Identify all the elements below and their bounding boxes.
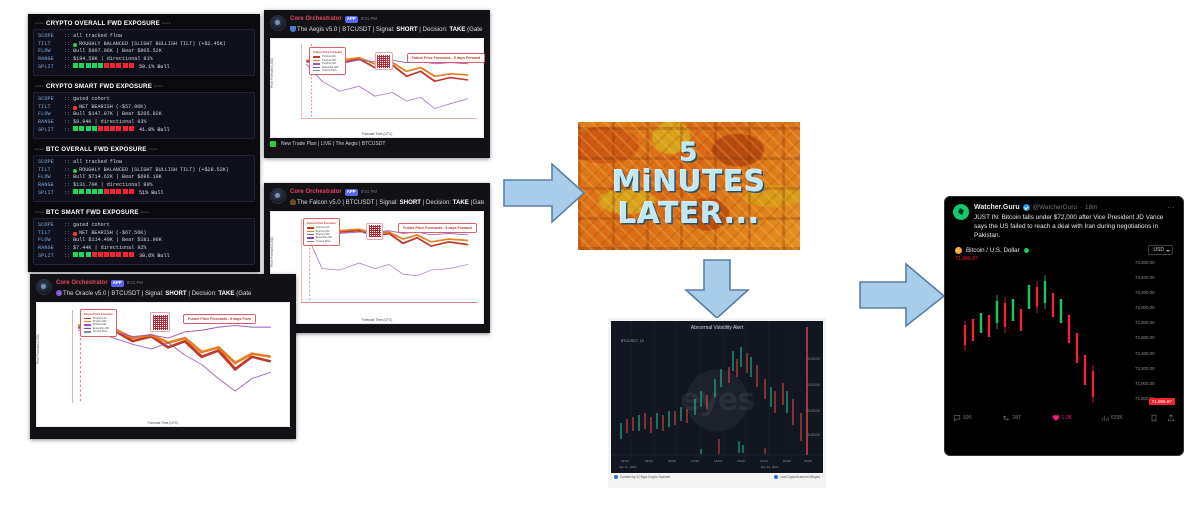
chart-symbol-row: Bitcoin / U.S. Dollar USD: [953, 245, 1175, 255]
message-header: Core Orchestrator APP 9:01 PM The Falcon…: [270, 188, 484, 207]
exposure-block-title: ---- CRYPTO SMART FWD EXPOSURE ----: [33, 81, 255, 92]
split-square-bull: [98, 189, 103, 194]
legend-swatch: [307, 241, 314, 242]
x-axis-label: Forecast Time (UTC): [37, 421, 289, 425]
message-meta: Core Orchestrator APP 9:01 PM The Aegis …: [290, 15, 484, 34]
app-badge: APP: [345, 189, 358, 196]
forecast-plot: Price Forecast (USD) Forecast Time (UTC)…: [270, 211, 484, 324]
gate-value: (Gate: [235, 290, 252, 297]
table-row: RANGE::$8.94K | directional 93%: [38, 119, 250, 127]
chart-legend: Future Price Forecast Prophet p10 Prophe…: [80, 309, 117, 337]
split-square-bear: [92, 252, 97, 257]
exposure-block-title: ---- BTC OVERALL FWD EXPOSURE ----: [33, 144, 255, 155]
handle[interactable]: @WatcherGuru: [1033, 204, 1077, 211]
split-square-bear: [129, 126, 134, 131]
legend-swatch: [313, 60, 320, 61]
x-axis-label: Forecast Time (UTC): [271, 132, 483, 136]
price-tick: 72,400.00: [1135, 346, 1175, 361]
table-row: FLOW::Bull $147.87K | Bear $205.82K: [38, 111, 250, 119]
price-tick: 72,000.00: [806, 409, 820, 413]
split-square-bear: [104, 63, 109, 68]
y-axis-label: Price Forecast (USD): [36, 334, 40, 364]
legend-swatch: [307, 237, 314, 238]
message-meta: Core Orchestrator APP 9:01 PM The Oracle…: [56, 279, 290, 298]
row-sep: ::: [64, 182, 70, 190]
forecast-plot: Price Forecast (USD) Forecast Time (UTC)…: [270, 38, 484, 138]
legend-title: Future Price Forecast: [307, 221, 336, 225]
split-square-bear: [123, 189, 128, 194]
five-minutes-later-meme: 5 MiNUTES LATER...: [578, 122, 800, 250]
exposure-block-body: SCOPE::gated cohort TILT::NET BEARISH (-…: [33, 92, 255, 139]
footer-left: Created by ZCRypt Crypto Scanner: [614, 475, 670, 479]
row-sep: ::: [64, 159, 70, 167]
x-axis-label: Forecast Time (UTC): [271, 318, 483, 322]
message-mid: | Decision:: [187, 290, 219, 297]
abnormal-volatility-card: Abnormal Volatility Alert BTCUSDT, 15 ey…: [608, 318, 826, 488]
status-dot-green: [73, 169, 77, 173]
table-row: SPLIT::38.6% Bull: [38, 252, 250, 261]
reply-count: 595: [963, 415, 972, 421]
split-square-bear: [129, 252, 134, 257]
legend-item: Current Price: [307, 240, 336, 243]
y-axis-label: Price Forecast (USD): [270, 237, 274, 267]
avatar: [270, 15, 286, 31]
analytics-icon: [1101, 414, 1109, 422]
legend-swatch: [84, 321, 91, 322]
price-tick: 72,800.00: [1135, 315, 1175, 330]
table-row: RANGE::$131.70K | directional 80%: [38, 182, 250, 190]
message-prefix: The Oracle v5.0 | BTCUSDT | Signal:: [63, 290, 165, 297]
title-text: CRYPTO SMART FWD EXPOSURE: [46, 83, 152, 90]
scanner-icon: [614, 475, 618, 479]
title-dash-right: ----: [141, 209, 150, 216]
more-options-icon[interactable]: ···: [1167, 204, 1175, 211]
table-row: SCOPE::all tracked flow: [38, 159, 250, 167]
title-dash-right: ----: [154, 83, 163, 90]
table-row: SCOPE::all tracked flow: [38, 33, 250, 41]
row-sep: ::: [64, 230, 70, 238]
timestamp: 18m: [1085, 204, 1097, 211]
qr-code-icon: [375, 52, 393, 70]
split-square-bull: [79, 63, 84, 68]
legend-label: Current Price: [322, 69, 337, 72]
message-mid: | Decision:: [421, 199, 453, 206]
row-sep: ::: [64, 222, 70, 230]
row-sep: ::: [64, 33, 70, 41]
time-tick: 18:00: [737, 459, 745, 463]
legend-swatch: [84, 318, 91, 319]
gate-value: (Gate 100/100): [465, 26, 484, 33]
gate-value: (Gate 98/100): [469, 199, 484, 206]
title-dash-right: ----: [162, 20, 171, 27]
title-dash-left: ----: [35, 20, 44, 27]
table-row: TILT::ROUGHLY BALANCED (SLIGHT BULLISH T…: [38, 167, 250, 175]
split-square-bear: [104, 252, 109, 257]
arrow-right-1-icon: [502, 158, 586, 228]
price-tick: 73,200.00: [1135, 285, 1175, 300]
row-sep: ::: [64, 111, 70, 119]
message-text: The Aegis v5.0 | BTCUSDT | Signal: SHORT…: [290, 25, 484, 34]
split-square-bull: [92, 189, 97, 194]
footer-right-text: t.me/CryptoScanner100eyes: [780, 475, 820, 479]
title-dash-right: ----: [149, 146, 158, 153]
price-axis: 73,600.00 73,400.00 73,200.00 73,000.00 …: [1135, 255, 1175, 406]
row-sep: ::: [64, 104, 70, 112]
oracle-emoji-icon: [56, 290, 62, 296]
split-square-bear: [98, 126, 103, 131]
row-sep: ::: [64, 174, 70, 182]
split-square-bull: [86, 252, 91, 257]
exposure-block: ---- BTC SMART FWD EXPOSURE ---- SCOPE::…: [33, 207, 255, 265]
legend-swatch: [84, 324, 91, 325]
status-dot-red: [73, 106, 77, 110]
table-row: TILT::NET BEARISH (-$67.56K): [38, 230, 250, 238]
split-square-bear: [104, 189, 109, 194]
tweet-right-actions: [1150, 414, 1175, 422]
split-square-bear: [129, 63, 134, 68]
legend-swatch: [313, 63, 320, 64]
like-action[interactable]: 1.3K: [1052, 414, 1101, 422]
forecast-card-aegis[interactable]: Core Orchestrator APP 9:01 PM The Aegis …: [264, 10, 490, 158]
footer-left-text: Created by ZCRypt Crypto Scanner: [620, 475, 670, 479]
split-square-bear: [98, 252, 103, 257]
exposure-block: ---- BTC OVERALL FWD EXPOSURE ---- SCOPE…: [33, 144, 255, 202]
table-row: RANGE::$194.59K | directional 81%: [38, 56, 250, 64]
volatility-footer: Created by ZCRypt Crypto Scanner t.me/Cr…: [611, 473, 823, 479]
exposure-terminal-card: ---- CRYPTO OVERALL FWD EXPOSURE ---- SC…: [28, 14, 260, 272]
row-sep: ::: [64, 56, 70, 64]
retweet-count: 287: [1012, 415, 1021, 421]
tweet-identity: Watcher.Guru @WatcherGuru · 18m ··· JUST…: [974, 204, 1175, 240]
table-row: SPLIT::51% Bull: [38, 189, 250, 198]
qr-code-icon: [366, 223, 383, 240]
tweet-chart[interactable]: Bitcoin / U.S. Dollar USD 71,986.87 73,6…: [953, 245, 1175, 421]
split-square-bull: [92, 63, 97, 68]
row-sep: ::: [64, 119, 70, 127]
view-count: 629K: [1111, 415, 1123, 421]
split-square-bull: [86, 63, 91, 68]
arrow-right-2-icon: [858, 258, 946, 330]
title-dash-left: ----: [35, 209, 44, 216]
time-tick: 12:00: [691, 459, 699, 463]
forecast-plot: Price Forecast (USD) Forecast Time (UTC)…: [36, 302, 290, 427]
author-name: Core Orchestrator: [290, 188, 342, 196]
table-row: SCOPE::gated cohort: [38, 222, 250, 230]
exposure-block: ---- CRYPTO SMART FWD EXPOSURE ---- SCOP…: [33, 81, 255, 139]
footer-text: New Trade Plan | LIVE | The Aegis | BTCU…: [281, 141, 385, 147]
row-sep: ::: [64, 64, 70, 72]
table-row: SCOPE::gated cohort: [38, 96, 250, 104]
legend-swatch: [84, 331, 91, 332]
share-icon[interactable]: [1167, 414, 1175, 422]
forecast-card-falcon[interactable]: Core Orchestrator APP 9:01 PM The Falcon…: [264, 183, 490, 333]
signal-value: SHORT: [396, 26, 417, 33]
verified-badge-icon: [1023, 204, 1030, 211]
message-meta: Core Orchestrator APP 9:01 PM The Falcon…: [290, 188, 484, 207]
dot-sep: ·: [1080, 204, 1082, 211]
row-sep: ::: [64, 190, 70, 198]
timestamp: 9:01 PM: [361, 15, 377, 23]
split-square-bear: [123, 63, 128, 68]
split-square-bull: [86, 126, 91, 131]
reply-icon: [953, 414, 961, 422]
author-name: Core Orchestrator: [290, 15, 342, 23]
row-sep: ::: [64, 96, 70, 104]
time-tick: 02:00: [621, 459, 629, 463]
row-sep: ::: [64, 127, 70, 135]
split-bar: [73, 189, 135, 198]
split-square-bull: [73, 63, 78, 68]
legend-swatch: [84, 328, 91, 329]
legend-swatch: [307, 234, 314, 235]
date-label-left: Apr 11, 2024: [619, 465, 637, 469]
bookmark-icon[interactable]: [1150, 414, 1158, 422]
bitcoin-icon: [955, 247, 962, 254]
status-dot-red: [73, 232, 77, 236]
signal-value: SHORT: [165, 290, 186, 297]
forecast-annotation: Future Price Forecasts - 5 days Forward: [398, 223, 477, 233]
split-square-bull: [73, 252, 78, 257]
legend-swatch: [313, 70, 320, 71]
author-row: Core Orchestrator APP 9:01 PM: [290, 15, 484, 23]
decision-value: TAKE: [218, 290, 234, 297]
legend-swatch: [313, 56, 320, 57]
table-row: SPLIT::50.1% Bull: [38, 63, 250, 72]
table-row: TILT::NET BEARISH (-$57.96K): [38, 104, 250, 112]
tweet-actions: 595 287 1.3K 629K: [953, 414, 1175, 422]
split-square-bull: [79, 252, 84, 257]
split-square-bull: [98, 63, 103, 68]
avatar[interactable]: [953, 204, 969, 220]
title-dash-left: ----: [35, 83, 44, 90]
tweet-name-row: Watcher.Guru @WatcherGuru · 18m ···: [974, 204, 1175, 211]
exposure-block-body: SCOPE::all tracked flow TILT::ROUGHLY BA…: [33, 29, 255, 76]
split-square-bear: [116, 126, 121, 131]
views-action[interactable]: 629K: [1101, 414, 1150, 422]
row-sep: ::: [64, 48, 70, 56]
row-sep: ::: [64, 237, 70, 245]
meme-line-3: LATER...: [578, 196, 800, 230]
price-tick: 71,000.00: [806, 433, 820, 437]
y-axis-label: Price Forecast (USD): [270, 57, 274, 87]
legend-swatch: [313, 67, 320, 68]
exposure-block: ---- CRYPTO OVERALL FWD EXPOSURE ---- SC…: [33, 18, 255, 76]
volatility-chart: Abnormal Volatility Alert BTCUSDT, 15 ey…: [611, 321, 823, 473]
split-square-bear: [104, 126, 109, 131]
split-square-bear: [116, 252, 121, 257]
table-row: SPLIT::41.8% Bull: [38, 126, 250, 135]
decision-value: TAKE: [449, 26, 465, 33]
split-square-bull: [86, 189, 91, 194]
message-prefix: The Aegis v5.0 | BTCUSDT | Signal:: [297, 26, 396, 33]
split-bar: [73, 63, 135, 72]
message-mid: | Decision:: [418, 26, 450, 33]
price-tick: 73,600.00: [1135, 255, 1175, 270]
split-square-bear: [116, 189, 121, 194]
exposure-block-body: SCOPE::gated cohort TILT::NET BEARISH (-…: [33, 218, 255, 265]
forecast-card-oracle[interactable]: Core Orchestrator APP 9:01 PM The Oracle…: [30, 274, 296, 439]
author-row: Core Orchestrator APP 9:01 PM: [56, 279, 290, 287]
heart-icon: [1052, 414, 1060, 422]
app-badge: APP: [345, 16, 358, 23]
title-text: BTC SMART FWD EXPOSURE: [46, 209, 139, 216]
split-square-bull: [79, 126, 84, 131]
split-square-bear: [110, 252, 115, 257]
split-square-bear: [110, 63, 115, 68]
row-sep: ::: [64, 41, 70, 49]
time-tick: 09:00: [668, 459, 676, 463]
split-square-bull: [73, 189, 78, 194]
legend-label: Current Price: [316, 240, 331, 243]
retweet-action[interactable]: 287: [1002, 414, 1051, 422]
footer-right[interactable]: t.me/CryptoScanner100eyes: [774, 475, 820, 479]
price-tick: 73,400.00: [1135, 270, 1175, 285]
exposure-block-body: SCOPE::all tracked flow TILT::ROUGHLY BA…: [33, 155, 255, 202]
legend-swatch: [307, 231, 314, 232]
title-text: CRYPTO OVERALL FWD EXPOSURE: [46, 20, 160, 27]
arrow-down-1-icon: [682, 258, 752, 320]
split-bar: [73, 126, 135, 135]
split-square-bear: [116, 63, 121, 68]
split-square-bear: [110, 189, 115, 194]
retweet-icon: [1002, 414, 1010, 422]
pair-label: Bitcoin / U.S. Dollar: [966, 247, 1020, 254]
split-square-bull: [73, 126, 78, 131]
split-square-bear: [123, 252, 128, 257]
avatar: [270, 188, 286, 204]
qr-code-icon: [150, 312, 170, 332]
split-bar: [73, 252, 135, 261]
shield-emoji-icon: [290, 26, 296, 32]
like-count: 1.3K: [1062, 415, 1073, 421]
time-tick: 21:00: [760, 459, 768, 463]
reply-action[interactable]: 595: [953, 414, 1002, 422]
check-icon: [270, 141, 276, 147]
timestamp: 9:01 PM: [127, 279, 143, 287]
chart-legend: Future Price Forecast Prophet p10 Prophe…: [309, 47, 346, 75]
display-name[interactable]: Watcher.Guru: [974, 204, 1020, 211]
price-tick: 72,000.00: [806, 383, 820, 387]
price-tick: 72,000.00: [1135, 376, 1175, 391]
forecast-annotation: Future Price Forecasts - 5 days Forward: [407, 53, 486, 63]
title-text: BTC OVERALL FWD EXPOSURE: [46, 146, 147, 153]
split-square-bear: [110, 126, 115, 131]
message-header: Core Orchestrator APP 9:01 PM The Aegis …: [270, 15, 484, 34]
row-sep: ::: [64, 253, 70, 261]
author-name: Core Orchestrator: [56, 279, 108, 287]
market-open-icon: [1024, 248, 1029, 253]
table-row: FLOW::Bull $714.62K | Bear $686.10K: [38, 174, 250, 182]
price-tick: 73,000.00: [1135, 300, 1175, 315]
signal-value: SHORT: [400, 199, 421, 206]
message-text: The Falcon v5.0 | BTCUSDT | Signal: SHOR…: [290, 198, 484, 207]
telegram-icon: [774, 475, 778, 479]
timestamp: 9:01 PM: [361, 188, 377, 196]
table-row: FLOW::Bull $907.96K | Bear $905.52K: [38, 48, 250, 56]
decision-value: TAKE: [453, 199, 469, 206]
card-footer: New Trade Plan | LIVE | The Aegis | BTCU…: [270, 141, 484, 147]
falcon-emoji-icon: [290, 199, 296, 205]
avatar: [36, 279, 52, 295]
legend-swatch: [307, 227, 314, 228]
price-badge: 71,986.87: [1149, 398, 1175, 405]
tweet-header: Watcher.Guru @WatcherGuru · 18m ··· JUST…: [953, 204, 1175, 240]
message-header: Core Orchestrator APP 9:01 PM The Oracle…: [36, 279, 290, 298]
meme-line-2: MiNUTES: [578, 164, 800, 198]
legend-item: Current Price: [84, 330, 113, 333]
currency-select[interactable]: USD: [1148, 245, 1173, 255]
message-prefix: The Falcon v5.0 | BTCUSDT | Signal:: [297, 199, 400, 206]
status-dot-green: [73, 43, 77, 47]
split-square-bear: [123, 126, 128, 131]
title-dash-left: ----: [35, 146, 44, 153]
legend-title: Future Price Forecast: [313, 50, 342, 54]
time-tick: 03:00: [804, 459, 812, 463]
table-row: FLOW::Bull $114.40K | Bear $181.96K: [38, 237, 250, 245]
message-text: The Oracle v5.0 | BTCUSDT | Signal: SHOR…: [56, 289, 290, 298]
split-square-bull: [92, 126, 97, 131]
time-tick: 15:00: [714, 459, 722, 463]
tweet-card[interactable]: Watcher.Guru @WatcherGuru · 18m ··· JUST…: [944, 196, 1184, 456]
price-tick: 72,600.00: [1135, 330, 1175, 345]
table-row: TILT::ROUGHLY BALANCED (SLIGHT BULLISH T…: [38, 41, 250, 49]
exposure-block-title: ---- BTC SMART FWD EXPOSURE ----: [33, 207, 255, 218]
chart-legend: Future Price Forecast Prophet p10 Prophe…: [303, 218, 340, 246]
forecast-annotation: Future Price Forecasts - 5 days Forw: [183, 314, 256, 324]
legend-title: Future Price Forecast: [84, 312, 113, 316]
row-sep: ::: [64, 245, 70, 253]
split-square-bear: [129, 189, 134, 194]
price-tick: 73,000.00: [806, 357, 820, 361]
app-badge: APP: [111, 280, 124, 287]
date-label-right: Apr 12, 2024: [761, 465, 779, 469]
legend-item: Current Price: [313, 69, 342, 72]
price-tick: 72,200.00: [1135, 361, 1175, 376]
legend-label: Current Price: [93, 330, 108, 333]
tweet-text: JUST IN: Bitcoin falls under $72,000 aft…: [974, 213, 1175, 240]
time-tick: 06:00: [645, 459, 653, 463]
exposure-block-title: ---- CRYPTO OVERALL FWD EXPOSURE ----: [33, 18, 255, 29]
author-row: Core Orchestrator APP 9:01 PM: [290, 188, 484, 196]
row-sep: ::: [64, 167, 70, 175]
time-tick: 00:00: [783, 459, 791, 463]
table-row: RANGE::$7.44K | directional 92%: [38, 245, 250, 253]
split-square-bull: [79, 189, 84, 194]
